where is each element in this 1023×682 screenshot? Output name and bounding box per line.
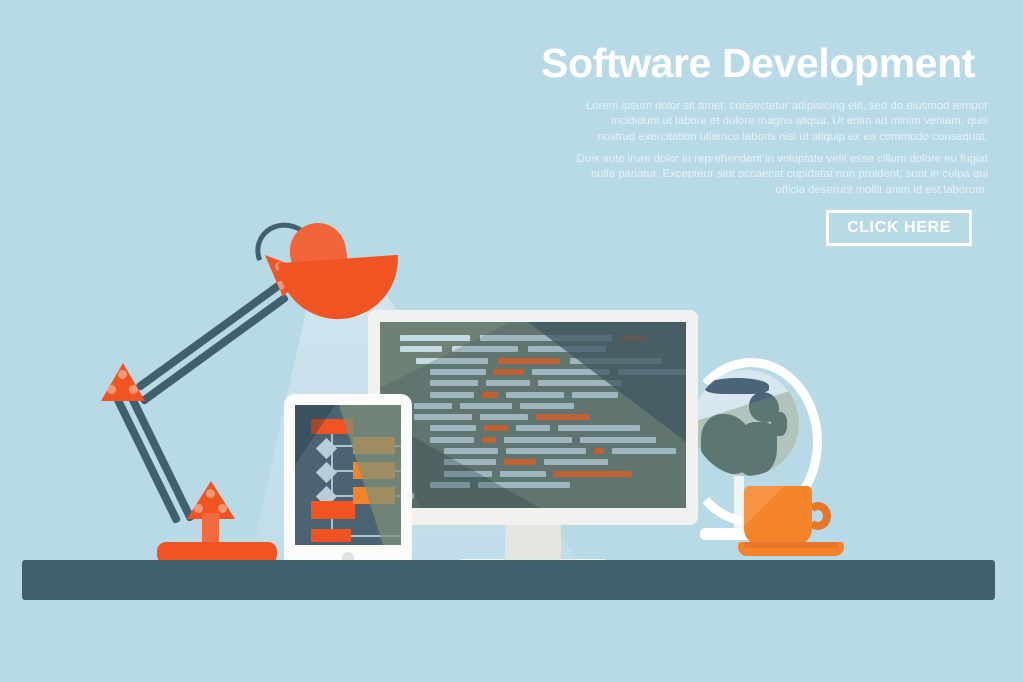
globe-sphere <box>693 370 799 476</box>
hero-paragraph-2: Duis aute irure dolor in reprehenderit i… <box>573 152 988 198</box>
code-line-segment <box>400 335 470 341</box>
illustration-canvas: Software Development Lorem ipsum dolor s… <box>0 0 1023 682</box>
hero-paragraph-1: Lorem ipsum dolor sit amet, consectetur … <box>573 99 988 145</box>
lamp-lower-arm-2 <box>126 391 195 522</box>
click-here-button[interactable]: CLICK HERE <box>826 210 972 246</box>
cup-saucer-rim <box>744 542 838 548</box>
coffee-cup <box>738 482 846 564</box>
monitor-neck <box>505 525 561 561</box>
lamp-lower-arm <box>112 393 181 524</box>
lamp-stem <box>202 513 219 545</box>
lamp-upper-arm <box>135 279 285 391</box>
desk-surface <box>22 560 995 600</box>
lamp-upper-arm-2 <box>139 293 289 405</box>
page-title: Software Development <box>430 42 975 85</box>
tablet-screen <box>295 405 401 545</box>
flowchart-process-node <box>311 529 351 542</box>
flowchart-connector <box>331 519 333 529</box>
code-line-segment <box>400 346 442 352</box>
tablet-bezel <box>284 394 412 569</box>
flowchart-decision-node <box>316 438 337 459</box>
desktop-monitor <box>368 310 698 565</box>
flowchart-decision-node <box>316 462 337 483</box>
flowchart-process-node <box>311 501 355 519</box>
tablet-device <box>284 394 412 569</box>
monitor-bezel <box>368 310 698 525</box>
monitor-screen <box>380 322 686 508</box>
